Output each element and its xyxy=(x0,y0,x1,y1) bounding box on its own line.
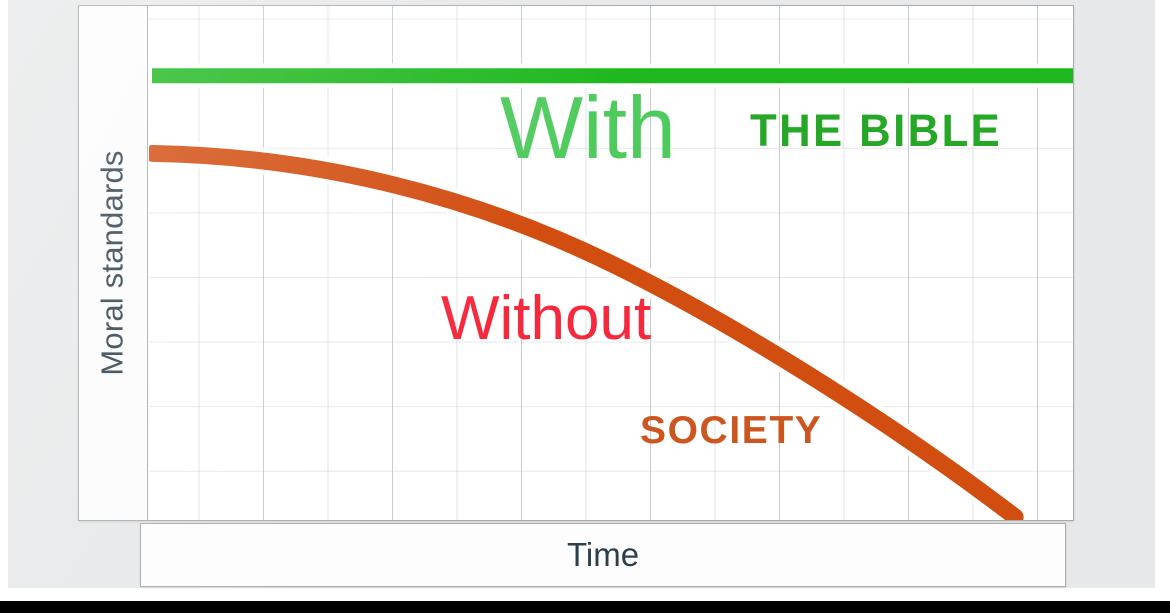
annotation-society: SOCIETY xyxy=(640,411,822,450)
plot-area: With THE BIBLE Without SOCIETY xyxy=(149,6,1073,520)
chart-frame: Moral standards With THE BIBLE Witho xyxy=(78,5,1074,521)
annotation-with: With xyxy=(500,84,676,172)
y-axis-label-cell: Moral standards xyxy=(79,6,148,520)
bottom-black-bar xyxy=(0,601,1170,613)
slide-background-panel: Moral standards With THE BIBLE Witho xyxy=(8,0,1155,588)
annotation-the-bible: THE BIBLE xyxy=(750,108,1002,153)
y-axis-label: Moral standards xyxy=(95,150,131,375)
x-axis-label: Time xyxy=(567,536,639,574)
annotation-without: Without xyxy=(441,288,651,350)
x-axis-label-box: Time xyxy=(140,523,1066,587)
